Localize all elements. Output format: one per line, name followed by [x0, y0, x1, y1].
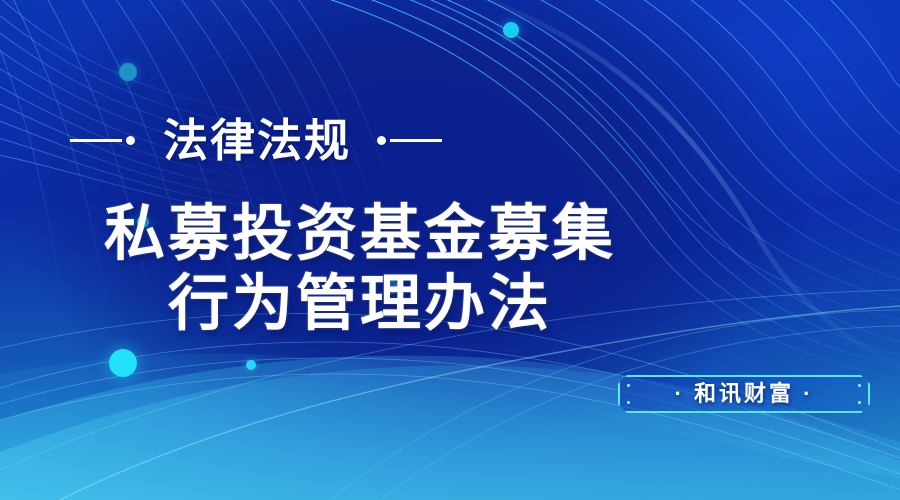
badge-corner-dot-bottom-left: [627, 401, 630, 404]
cyan-dot-top-center: [503, 22, 519, 38]
brand-badge-label: · 和讯财富 ·: [675, 383, 814, 405]
kicker-label: 法律法规: [163, 118, 351, 163]
kicker-row: 法律法规: [0, 112, 520, 168]
rule-right-dot: [377, 136, 386, 145]
rule-right-line: [390, 139, 442, 142]
main-title: 私募投资基金募集 行为管理办法: [0, 198, 900, 338]
banner-graphic: 法律法规 私募投资基金募集 行为管理办法 · 和讯财富 ·: [0, 0, 900, 500]
rule-right-icon: [377, 136, 442, 145]
title-line-1: 私募投资基金募集: [0, 198, 720, 268]
rule-left-icon: [70, 136, 135, 145]
cyan-dot-bottom-left: [109, 349, 137, 377]
cyan-dot-top-left: [119, 63, 137, 81]
badge-corner-dot-top-right: [858, 384, 861, 387]
title-line-2: 行为管理办法: [0, 268, 720, 338]
brand-badge: · 和讯财富 ·: [618, 375, 870, 413]
rule-left-line: [70, 139, 122, 142]
rule-left-dot: [126, 136, 135, 145]
badge-corner-dot-bottom-right: [858, 401, 861, 404]
badge-corner-dot-top-left: [627, 384, 630, 387]
cyan-dot-bottom-small: [246, 360, 256, 370]
